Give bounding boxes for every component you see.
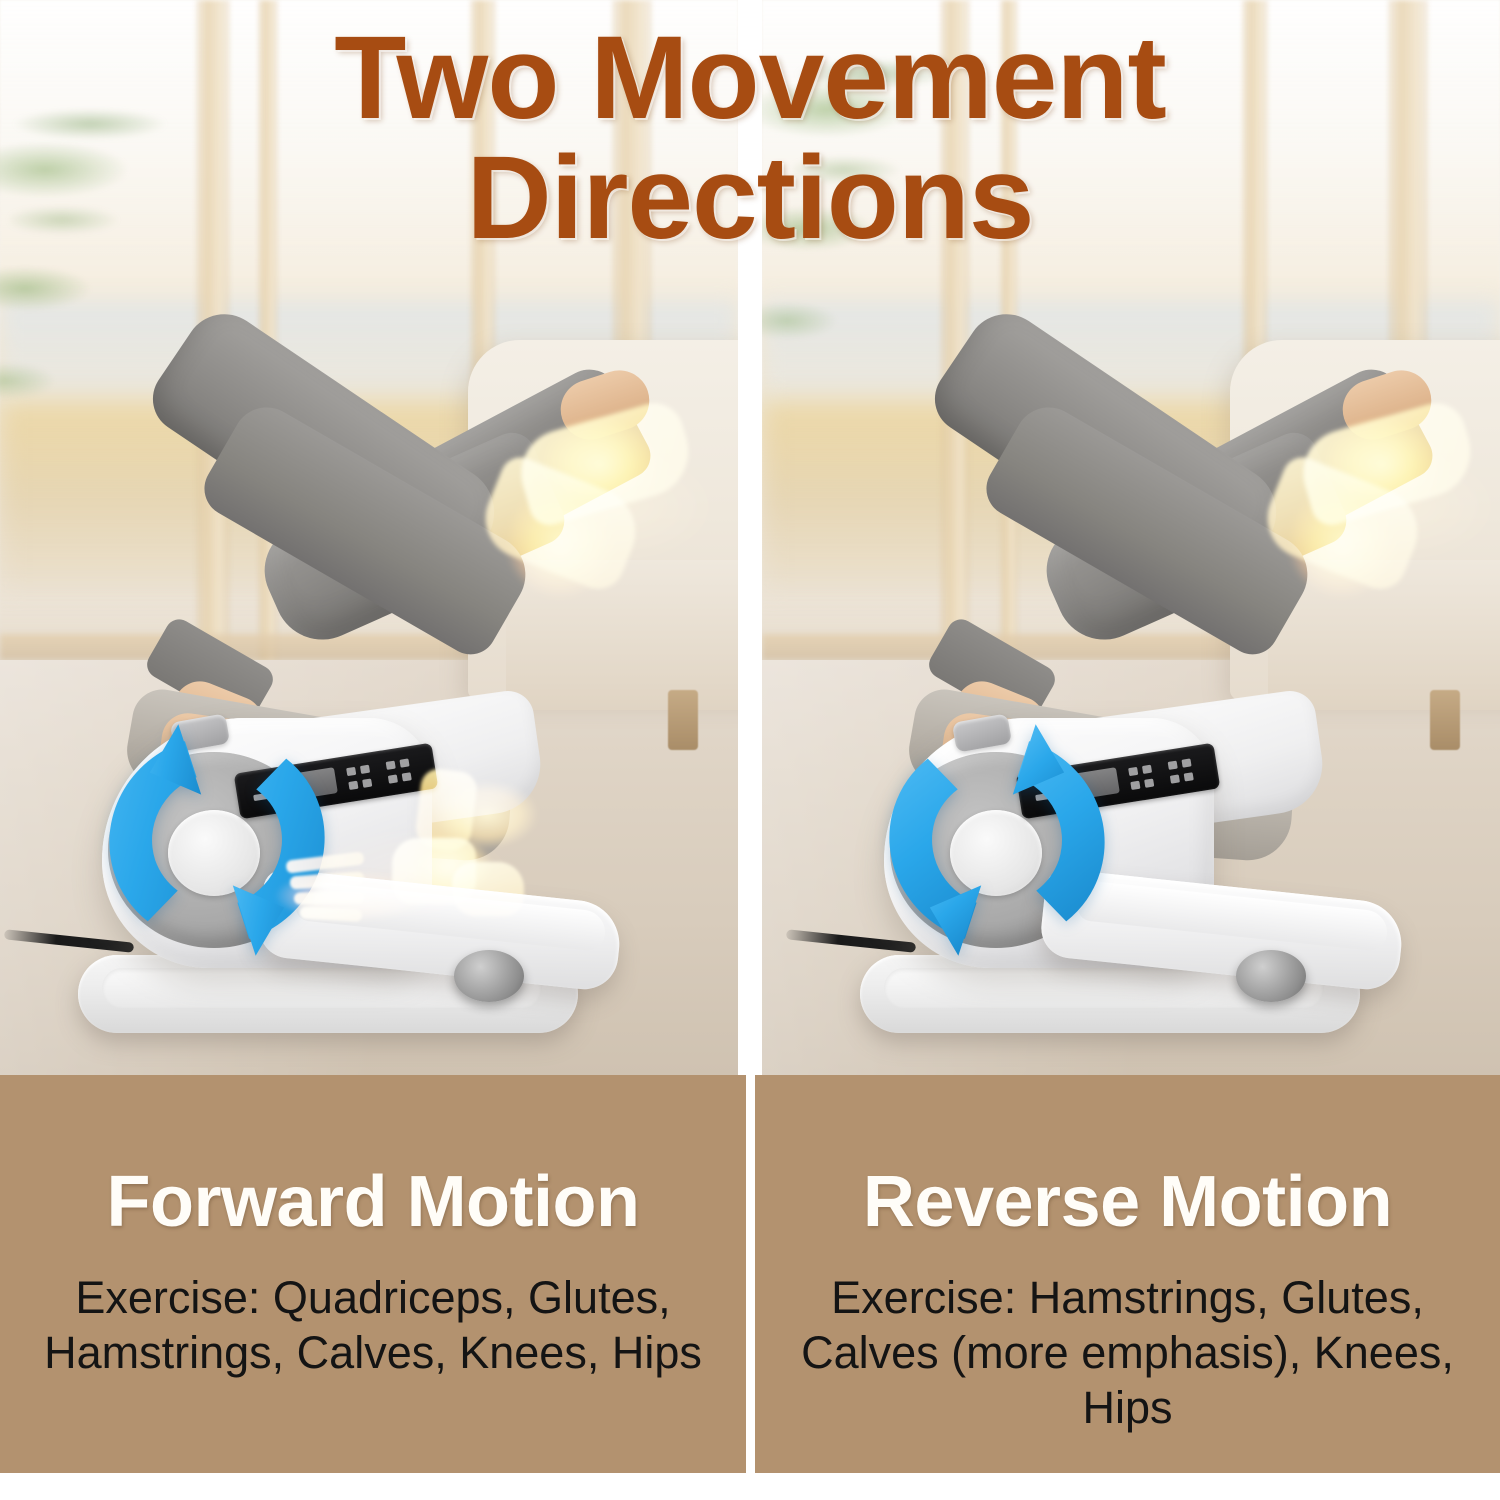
lcd-indicator [1168, 761, 1178, 770]
lcd-indicator [1184, 772, 1194, 781]
pedal-roller [454, 950, 524, 1002]
lcd-indicator [399, 758, 409, 767]
elliptical-machine-left [60, 700, 670, 1060]
headline-line-1: Two Movement [0, 18, 1500, 138]
rotation-arrows-forward-icon [66, 710, 366, 1000]
elliptical-machine-right [842, 700, 1452, 1060]
rotation-arrows-reverse-icon [848, 710, 1148, 1000]
caption-desc-forward: Exercise: Quadriceps, Glutes, Hamstrings… [26, 1271, 720, 1381]
heel-bone-overlay [452, 862, 524, 916]
product-infographic: Two Movement Directions Forward Motion E… [0, 0, 1500, 1500]
lcd-indicator [1170, 774, 1180, 783]
caption-title-forward: Forward Motion [107, 1161, 640, 1243]
caption-forward-motion: Forward Motion Exercise: Quadriceps, Glu… [0, 1075, 746, 1473]
bottom-margin [0, 1473, 1500, 1500]
caption-title-reverse: Reverse Motion [863, 1161, 1392, 1243]
lcd-indicator [1181, 758, 1191, 767]
pedal-roller [1236, 950, 1306, 1002]
lcd-indicator [386, 761, 396, 770]
headline: Two Movement Directions [0, 18, 1500, 259]
caption-reverse-motion: Reverse Motion Exercise: Hamstrings, Glu… [755, 1075, 1500, 1473]
caption-band: Forward Motion Exercise: Quadriceps, Glu… [0, 1075, 1500, 1473]
lcd-indicator [388, 774, 398, 783]
caption-divider [746, 1075, 755, 1473]
caption-desc-reverse: Exercise: Hamstrings, Glutes, Calves (mo… [781, 1271, 1474, 1436]
lcd-indicator [402, 772, 412, 781]
headline-line-2: Directions [0, 138, 1500, 258]
metatarsal-bone-overlay [294, 891, 364, 904]
